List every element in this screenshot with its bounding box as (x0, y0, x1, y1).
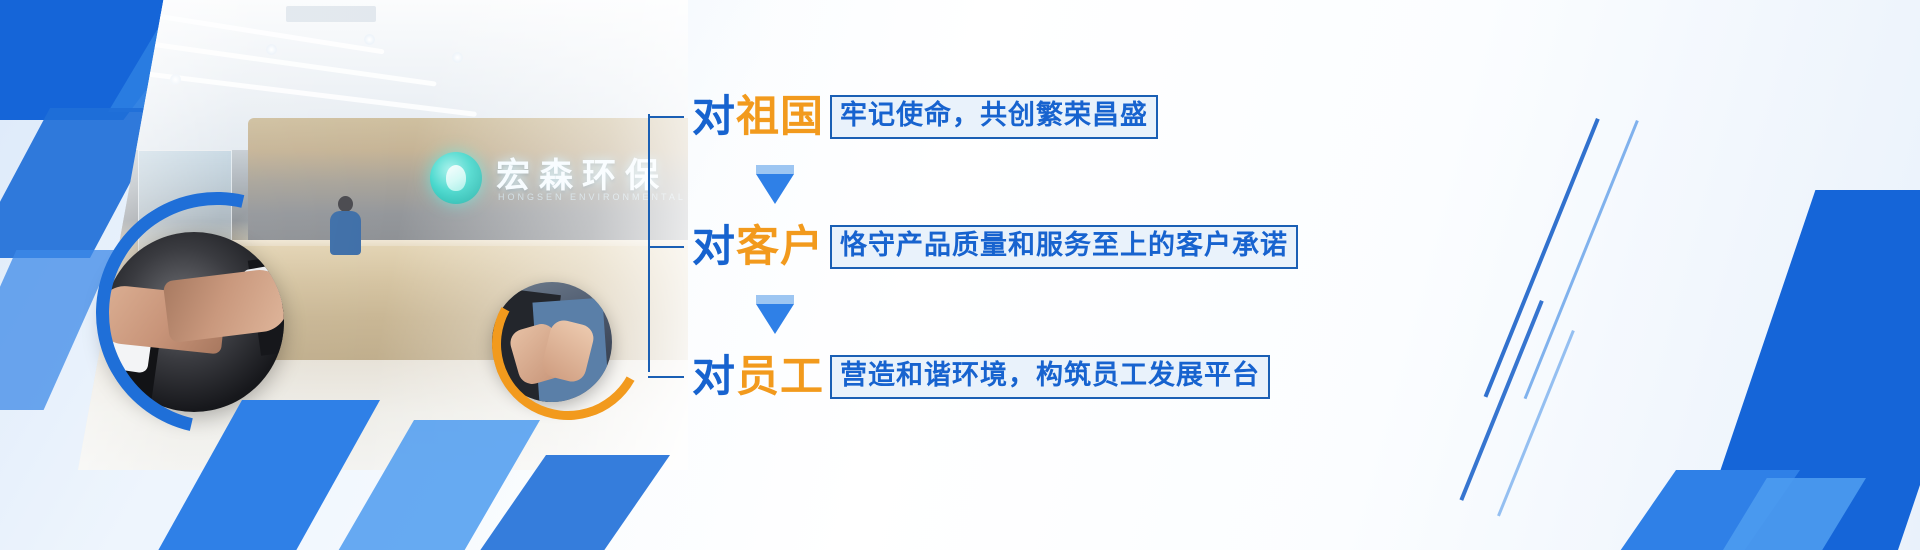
value-lead-nation: 对祖国 (692, 96, 824, 139)
value-target-employee: 员工 (736, 352, 824, 402)
bracket-tick-2 (648, 246, 684, 248)
value-target-nation: 祖国 (736, 92, 824, 142)
value-prefix-employee: 对 (692, 352, 736, 402)
value-row-customer: 对客户 恪守产品质量和服务至上的客户承诺 (648, 220, 1298, 274)
value-statement-employee: 营造和谐环境，构筑员工发展平台 (830, 355, 1270, 398)
value-prefix-customer: 对 (692, 222, 736, 272)
down-triangle-icon-cap-2 (756, 295, 794, 304)
value-prefix-nation: 对 (692, 92, 736, 142)
values-list: 对祖国 牢记使命，共创繁荣昌盛 对客户 恪守产品质量和服务至上的客户承诺 对员工… (648, 72, 1368, 402)
down-triangle-icon-2 (756, 304, 794, 334)
down-triangle-icon-1 (756, 174, 794, 204)
down-triangle-icon-cap-1 (756, 165, 794, 174)
value-row-employee: 对员工 营造和谐环境，构筑员工发展平台 (648, 350, 1270, 404)
bracket-tick-3 (648, 376, 684, 378)
value-lead-employee: 对员工 (692, 356, 824, 399)
value-statement-customer: 恪守产品质量和服务至上的客户承诺 (830, 225, 1298, 268)
value-statement-nation: 牢记使命，共创繁荣昌盛 (830, 95, 1158, 138)
decorative-diagonal-line-4 (1497, 330, 1575, 517)
bracket-tick-1 (648, 116, 684, 118)
value-lead-customer: 对客户 (692, 226, 824, 269)
company-values-banner: 宏森环保 HONGSEN ENVIRONMENTAL PROTECTION (0, 0, 1920, 550)
value-target-customer: 客户 (736, 222, 824, 272)
value-row-nation: 对祖国 牢记使命，共创繁荣昌盛 (648, 90, 1158, 144)
decorative-diagonal-line-3 (1459, 300, 1543, 501)
